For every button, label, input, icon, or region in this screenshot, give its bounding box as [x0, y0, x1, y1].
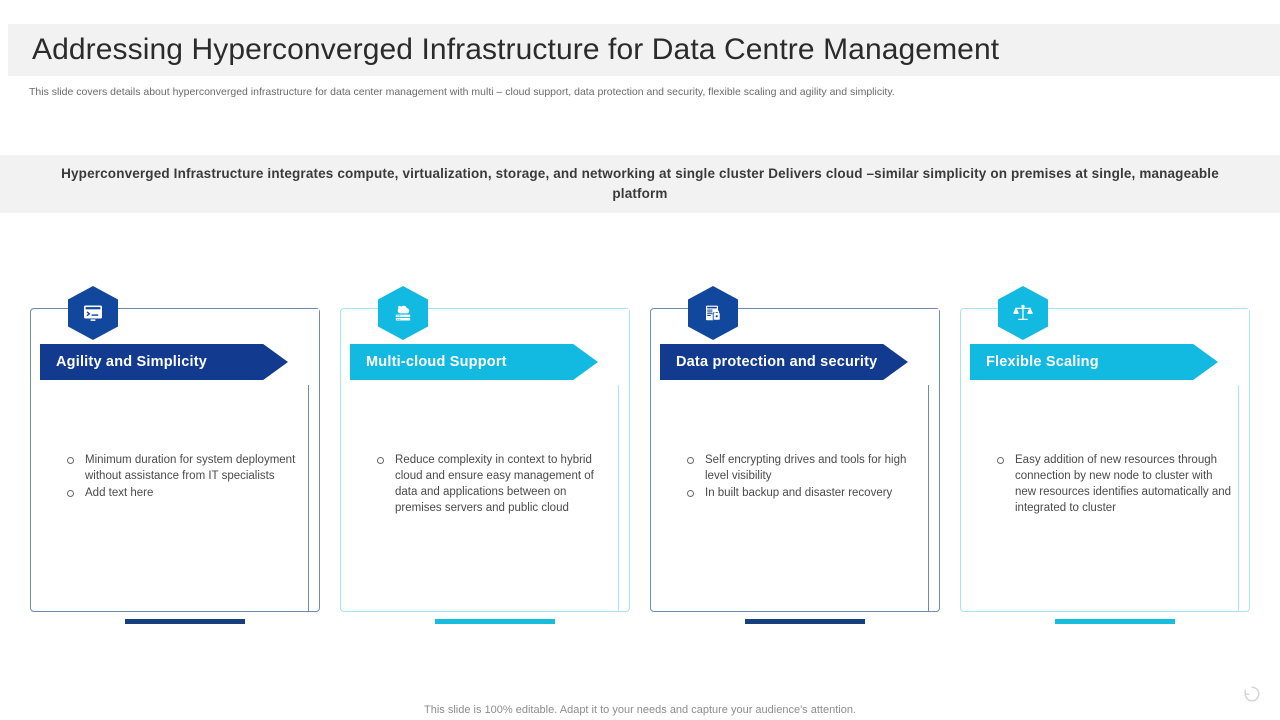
card-title: Agility and Simplicity — [40, 354, 207, 370]
card-title-banner[interactable]: Multi-cloud Support — [350, 344, 598, 380]
card-title: Data protection and security — [660, 354, 877, 370]
card-body: Minimum duration for system deployment w… — [64, 452, 304, 502]
list-item: Minimum duration for system deployment w… — [64, 452, 304, 484]
card-title-banner[interactable]: Flexible Scaling — [970, 344, 1218, 380]
card-accent-bar — [745, 619, 865, 624]
title-left-spacer — [0, 24, 8, 76]
slide-subtitle: This slide covers details about hypercon… — [29, 85, 1259, 99]
statement-text: Hyperconverged Infrastructure integrates… — [42, 164, 1238, 204]
card-icon-hexagon — [688, 286, 738, 340]
card-body: Self encrypting drives and tools for hig… — [684, 452, 924, 502]
card-bullet-list: Easy addition of new resources through c… — [994, 452, 1234, 516]
card-body: Easy addition of new resources through c… — [994, 452, 1234, 517]
reload-icon[interactable] — [1238, 680, 1266, 708]
card-agility-and-simplicity[interactable]: Agility and Simplicity Minimum duration … — [30, 282, 320, 632]
slide-root: Addressing Hyperconverged Infrastructure… — [0, 0, 1280, 720]
card-multi-cloud-support[interactable]: Multi-cloud Support Reduce complexity in… — [340, 282, 630, 632]
monitor-terminal-icon — [81, 301, 105, 325]
card-right-line — [1238, 366, 1239, 612]
cloud-server-icon — [391, 301, 415, 325]
card-icon-hexagon — [68, 286, 118, 340]
list-item: Easy addition of new resources through c… — [994, 452, 1234, 516]
card-icon-hexagon — [998, 286, 1048, 340]
title-bar: Addressing Hyperconverged Infrastructure… — [0, 24, 1280, 76]
page-title: Addressing Hyperconverged Infrastructure… — [8, 33, 999, 67]
card-title-banner[interactable]: Data protection and security — [660, 344, 908, 380]
list-item: Reduce complexity in context to hybrid c… — [374, 452, 614, 516]
card-bullet-list: Self encrypting drives and tools for hig… — [684, 452, 924, 501]
cards-row: Agility and Simplicity Minimum duration … — [0, 282, 1280, 632]
card-bullet-list: Minimum duration for system deployment w… — [64, 452, 304, 501]
card-body: Reduce complexity in context to hybrid c… — [374, 452, 614, 517]
footer-note: This slide is 100% editable. Adapt it to… — [0, 704, 1280, 716]
list-item: In built backup and disaster recovery — [684, 485, 924, 501]
balance-scales-icon — [1011, 301, 1035, 325]
card-title: Multi-cloud Support — [350, 354, 507, 370]
card-accent-bar — [435, 619, 555, 624]
statement-banner: Hyperconverged Infrastructure integrates… — [0, 155, 1280, 213]
card-title: Flexible Scaling — [970, 354, 1099, 370]
card-title-banner[interactable]: Agility and Simplicity — [40, 344, 288, 380]
card-data-protection-and-security[interactable]: Data protection and security Self encryp… — [650, 282, 940, 632]
card-right-line — [618, 366, 619, 612]
card-accent-bar — [125, 619, 245, 624]
card-bullet-list: Reduce complexity in context to hybrid c… — [374, 452, 614, 516]
card-icon-hexagon — [378, 286, 428, 340]
document-lock-icon — [701, 301, 725, 325]
card-accent-bar — [1055, 619, 1175, 624]
card-right-line — [308, 366, 309, 612]
list-item: Self encrypting drives and tools for hig… — [684, 452, 924, 484]
list-item: Add text here — [64, 485, 304, 501]
card-right-line — [928, 366, 929, 612]
card-flexible-scaling[interactable]: Flexible Scaling Easy addition of new re… — [960, 282, 1250, 632]
